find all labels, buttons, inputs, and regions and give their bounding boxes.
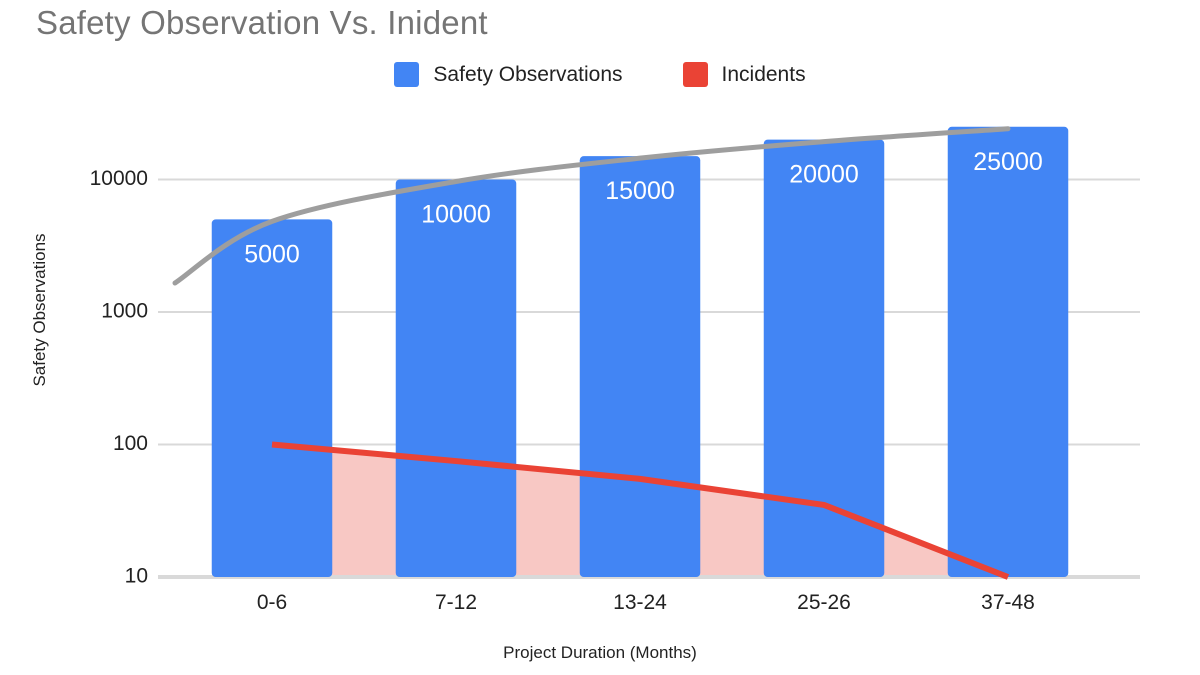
x-axis-ticks: 0-67-1213-2425-2637-48 [257,591,1035,614]
y-tick-label: 10 [125,565,148,588]
x-axis-title: Project Duration (Months) [0,643,1200,663]
x-tick-label: 0-6 [257,591,287,614]
y-tick-label: 100 [113,432,148,455]
x-tick-label: 7-12 [435,591,477,614]
bar-value-label: 25000 [973,148,1043,176]
bar[interactable] [948,127,1069,577]
bar-value-label: 15000 [605,177,675,205]
plot-area: 101001000100000-67-1213-2425-2637-485000… [0,0,1200,675]
bar-value-label: 10000 [421,201,491,229]
bar[interactable] [580,156,701,577]
x-tick-label: 13-24 [613,591,667,614]
y-axis-ticks: 10100100010000 [90,167,148,588]
bar[interactable] [396,180,517,578]
chart-container: Safety Observation Vs. Inident Safety Ob… [0,0,1200,675]
y-tick-label: 1000 [101,300,148,323]
bar-value-label: 20000 [789,161,859,189]
y-tick-label: 10000 [90,167,148,190]
plot-svg: 101001000100000-67-1213-2425-2637-485000… [0,0,1200,675]
x-tick-label: 25-26 [797,591,851,614]
x-tick-label: 37-48 [981,591,1035,614]
bar-value-label: 5000 [244,240,300,268]
y-axis-title: Safety Observations [30,210,50,410]
bar[interactable] [764,140,885,577]
bar[interactable] [212,219,333,577]
